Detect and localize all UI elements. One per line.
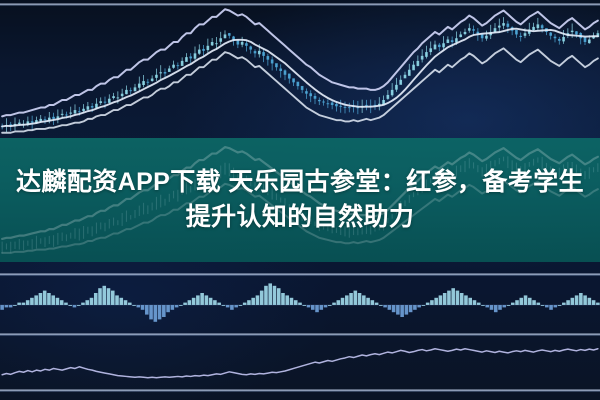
macd-histogram [0, 276, 600, 334]
banner-image: 达麟配资APP下载 天乐园古参堂：红参，备考学生提升认知的自然助力 [0, 0, 600, 400]
separator-top [0, 3, 600, 6]
headline-band: 达麟配资APP下载 天乐园古参堂：红参，备考学生提升认知的自然助力 [0, 138, 600, 262]
macd-histogram-panel [0, 276, 600, 334]
candlestick-chart [0, 4, 600, 138]
indicator-line-chart [0, 336, 600, 390]
price-chart-panel [0, 4, 600, 138]
indicator-line-panel [0, 336, 600, 390]
headline-text: 达麟配资APP下载 天乐园古参堂：红参，备考学生提升认知的自然助力 [15, 165, 585, 236]
